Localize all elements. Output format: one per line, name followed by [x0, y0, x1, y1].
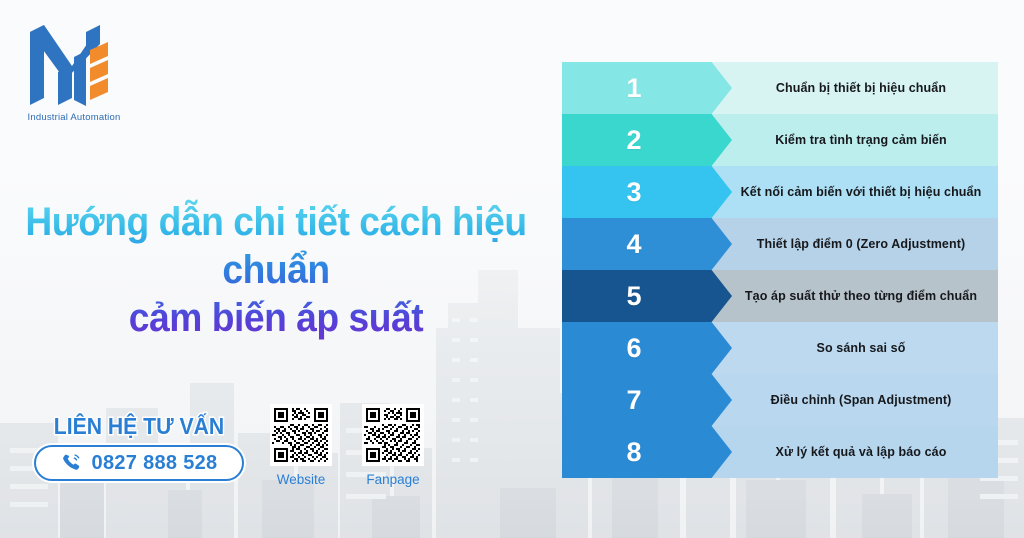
- step-number: 7: [626, 387, 641, 414]
- logo-tagline: Industrial Automation: [14, 112, 134, 123]
- step-number-arrow: 3: [562, 166, 732, 218]
- step-number-arrow: 8: [562, 426, 732, 478]
- company-logo: Industrial Automation: [20, 20, 140, 123]
- qr-code-icon[interactable]: [362, 404, 424, 466]
- qr-code-icon[interactable]: [270, 404, 332, 466]
- title-line-1: Hướng dẫn chi tiết cách hiệu chuẩn: [19, 198, 532, 294]
- step-row[interactable]: Tạo áp suất thử theo từng điểm chuẩn 5: [562, 270, 998, 322]
- step-number-arrow: 1: [562, 62, 732, 114]
- step-number-arrow: 7: [562, 374, 732, 426]
- step-label: Xử lý kết quả và lập báo cáo: [776, 445, 947, 460]
- step-label: Chuẩn bị thiết bị hiệu chuẩn: [776, 81, 946, 96]
- step-label: Thiết lập điểm 0 (Zero Adjustment): [757, 237, 966, 252]
- step-number: 6: [626, 335, 641, 362]
- step-row[interactable]: Chuẩn bị thiết bị hiệu chuẩn 1: [562, 62, 998, 114]
- step-label: Tạo áp suất thử theo từng điểm chuẩn: [745, 289, 977, 304]
- step-number-arrow: 6: [562, 322, 732, 374]
- step-row[interactable]: Kiểm tra tình trạng cảm biến 2: [562, 114, 998, 166]
- qr-website-label: Website: [270, 472, 332, 487]
- step-number-arrow: 5: [562, 270, 732, 322]
- contact-block: LIÊN HỆ TƯ VẤN 0827 888 528: [34, 412, 244, 481]
- page-title: Hướng dẫn chi tiết cách hiệu chuẩn cảm b…: [0, 198, 552, 342]
- step-row[interactable]: Kết nối cảm biến với thiết bị hiệu chuẩn…: [562, 166, 998, 218]
- qr-fanpage[interactable]: Fanpage: [362, 404, 424, 487]
- step-number: 4: [626, 231, 641, 258]
- phone-button[interactable]: 0827 888 528: [34, 445, 244, 481]
- qr-fanpage-label: Fanpage: [362, 472, 424, 487]
- step-number: 1: [626, 75, 641, 102]
- step-row[interactable]: So sánh sai số 6: [562, 322, 998, 374]
- step-label: So sánh sai số: [817, 341, 906, 356]
- step-number-arrow: 2: [562, 114, 732, 166]
- qr-website[interactable]: Website: [270, 404, 332, 487]
- step-number: 5: [626, 283, 641, 310]
- step-number: 3: [626, 179, 641, 206]
- me-monogram-logo-icon: [26, 20, 110, 106]
- title-line-2: cảm biến áp suất: [19, 294, 532, 342]
- step-row[interactable]: Điều chỉnh (Span Adjustment) 7: [562, 374, 998, 426]
- step-label: Điều chỉnh (Span Adjustment): [771, 393, 952, 408]
- steps-panel: Chuẩn bị thiết bị hiệu chuẩn 1 Kiểm tra …: [562, 62, 998, 478]
- contact-heading: LIÊN HỆ TƯ VẤN: [42, 412, 235, 440]
- step-row[interactable]: Thiết lập điểm 0 (Zero Adjustment) 4: [562, 218, 998, 270]
- phone-ringing-icon: [61, 452, 83, 474]
- step-label: Kết nối cảm biến với thiết bị hiệu chuẩn: [741, 185, 982, 200]
- step-number: 8: [626, 439, 641, 466]
- phone-number: 0827 888 528: [92, 452, 218, 475]
- banner-root: Industrial Automation Hướng dẫn chi tiết…: [0, 0, 1024, 538]
- step-number: 2: [626, 127, 641, 154]
- step-label: Kiểm tra tình trạng cảm biến: [775, 133, 947, 148]
- step-number-arrow: 4: [562, 218, 732, 270]
- step-row[interactable]: Xử lý kết quả và lập báo cáo 8: [562, 426, 998, 478]
- qr-code-group: Website: [270, 404, 424, 487]
